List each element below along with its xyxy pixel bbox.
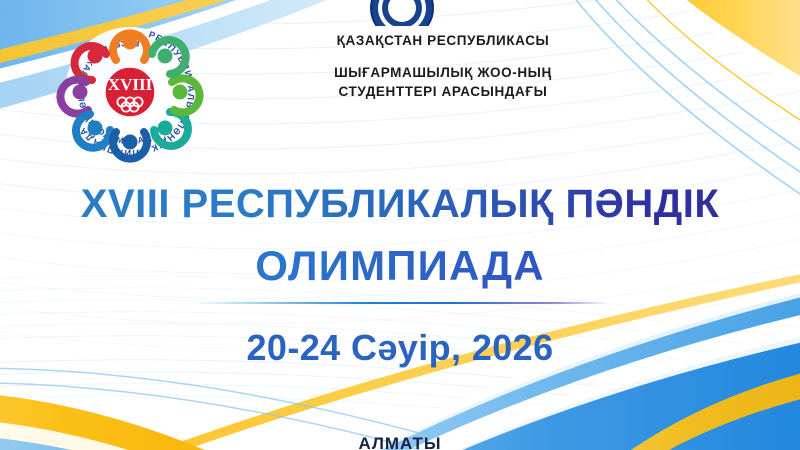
header-line-students: СТУДЕНТТЕРІ АРАСЫНДАҒЫ	[214, 82, 672, 102]
emblem-badge-number: XVIII	[108, 75, 153, 94]
emblem-center-badge: XVIII	[102, 64, 158, 120]
event-city: АЛМАТЫ	[0, 434, 800, 450]
header-line-republic: ҚАЗАҚСТАН РЕСПУБЛИКАСЫ	[214, 33, 672, 49]
state-seal-icon	[368, 0, 436, 26]
header-text-block: ҚАЗАҚСТАН РЕСПУБЛИКАСЫ ШЫҒАРМАШЫЛЫҚ ЖОО-…	[214, 33, 672, 102]
title-divider	[190, 302, 610, 304]
olympiad-emblem: РЕСПУБЛИКАЛЫҚ ПӘНДІК ОЛИМПИАДА РЕСПУБЛИК…	[56, 18, 204, 166]
header-line-institutions: ШЫҒАРМАШЫЛЫҚ ЖОО-НЫҢ	[214, 63, 672, 83]
olympiad-poster: РЕСПУБЛИКАЛЫҚ ПӘНДІК ОЛИМПИАДА РЕСПУБЛИК…	[0, 0, 800, 450]
page-subtitle: ОЛИМПИАДА	[0, 242, 800, 290]
event-date: 20-24 Сәуір, 2026	[0, 327, 800, 369]
page-title: XVIII РЕСПУБЛИКАЛЫҚ ПӘНДІК	[0, 182, 800, 227]
